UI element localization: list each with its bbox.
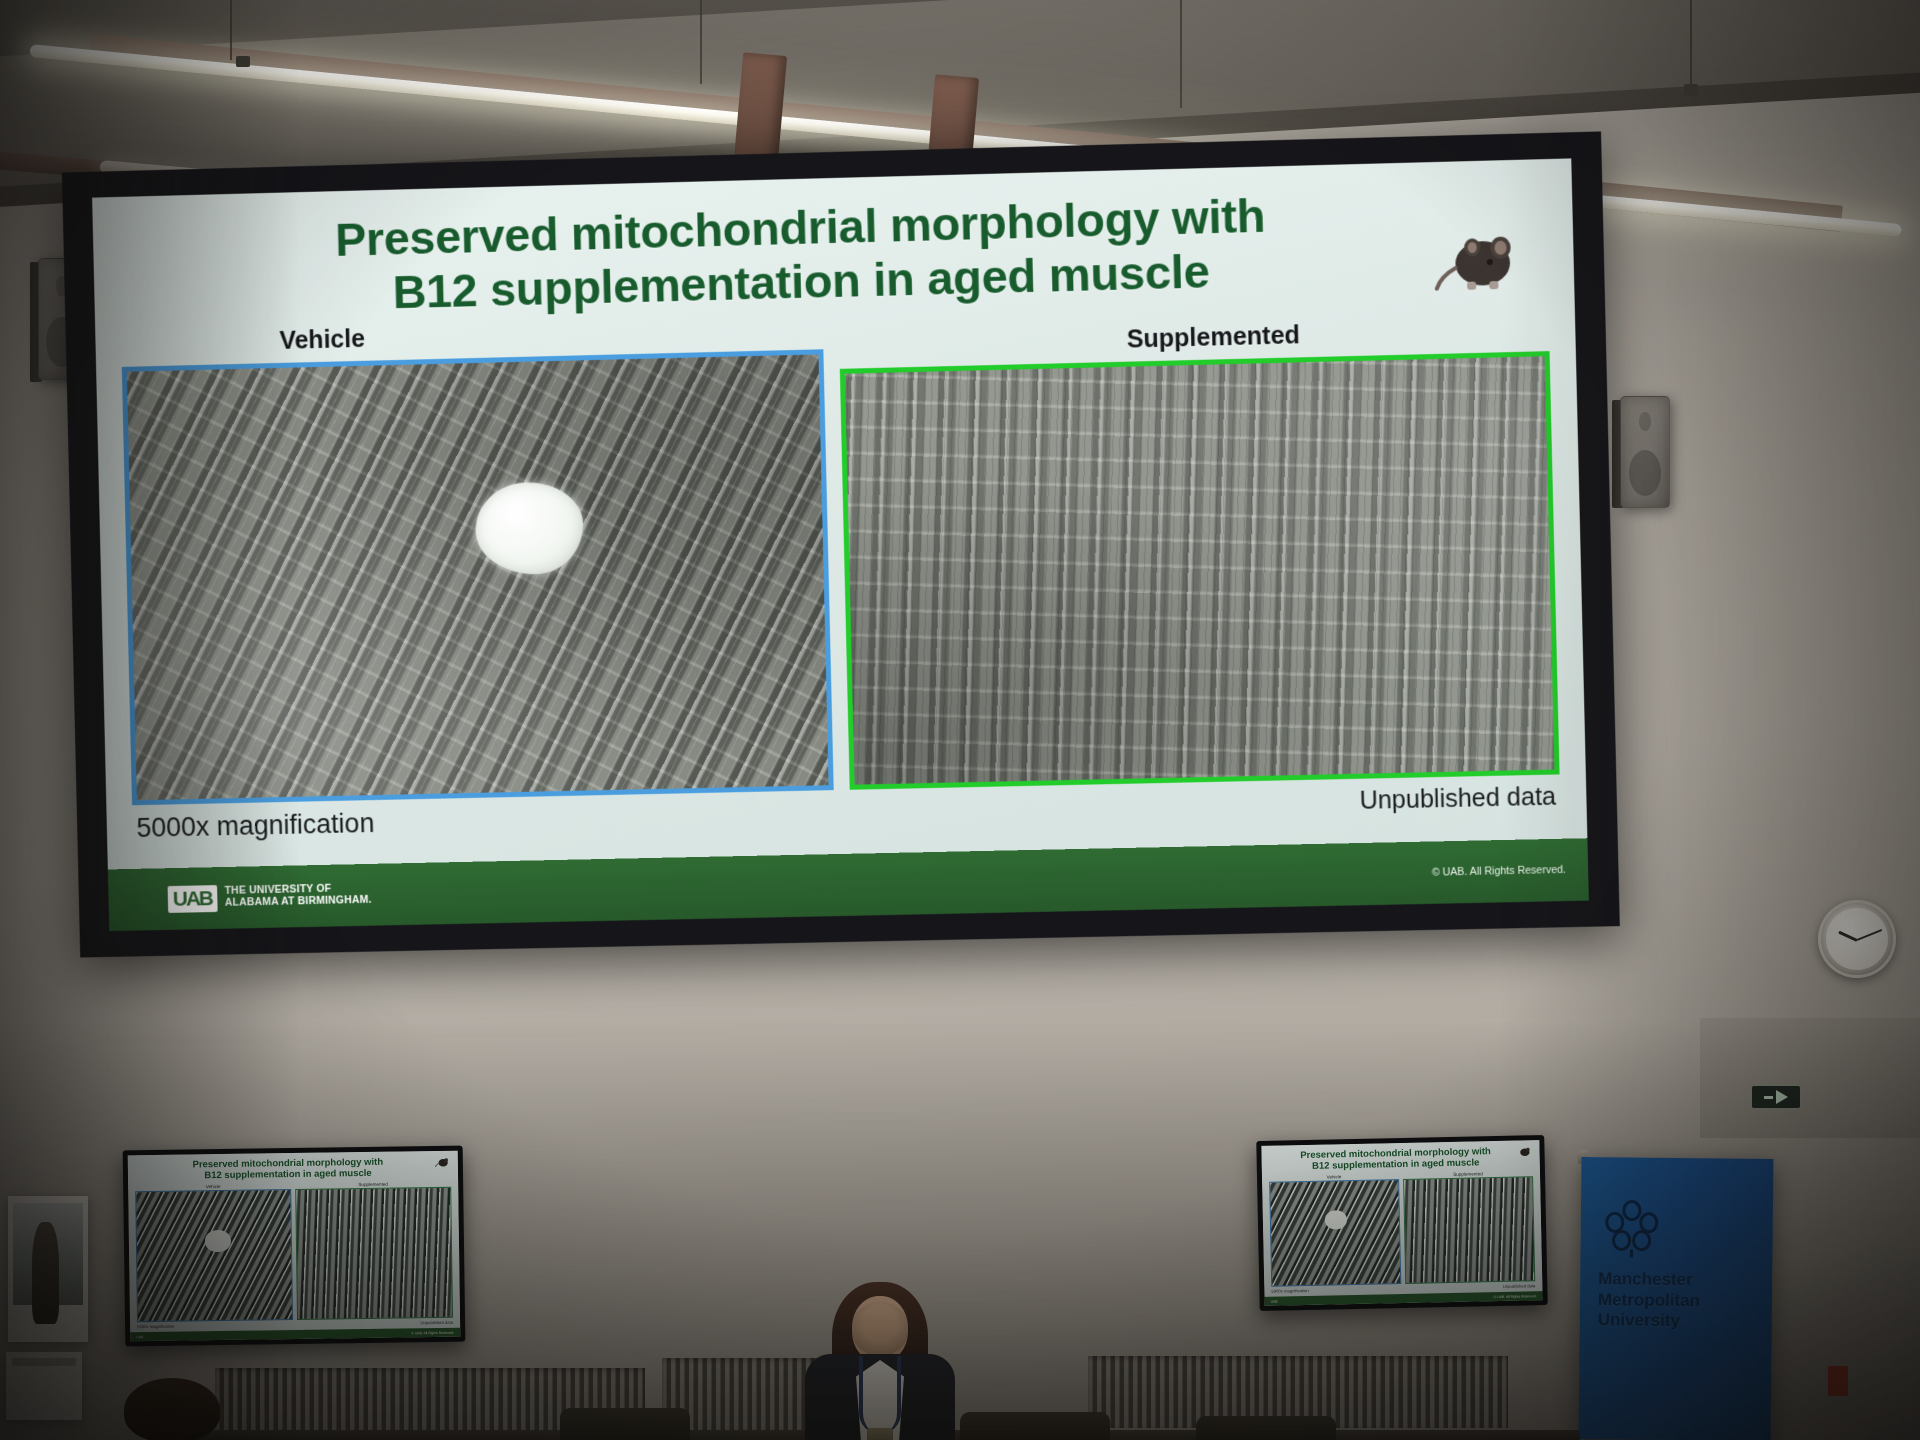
- panel-supplemented: Supplemented: [838, 293, 1559, 790]
- light-hanger-2: [700, 0, 702, 84]
- presentation-slide: Preserved mitochondrial morphology with …: [92, 158, 1589, 931]
- lecture-theatre-scene: Preserved mitochondrial morphology with …: [0, 0, 1920, 1440]
- micrograph-texture-supplemented: [840, 351, 1560, 789]
- wall-shadow-bottom: [0, 1020, 1920, 1440]
- light-hanger-3: [1180, 0, 1182, 108]
- micrograph-supplemented: [840, 351, 1560, 789]
- projection-screen: Preserved mitochondrial morphology with …: [92, 158, 1589, 931]
- slide-panels: Vehicle Supplemented: [95, 292, 1586, 806]
